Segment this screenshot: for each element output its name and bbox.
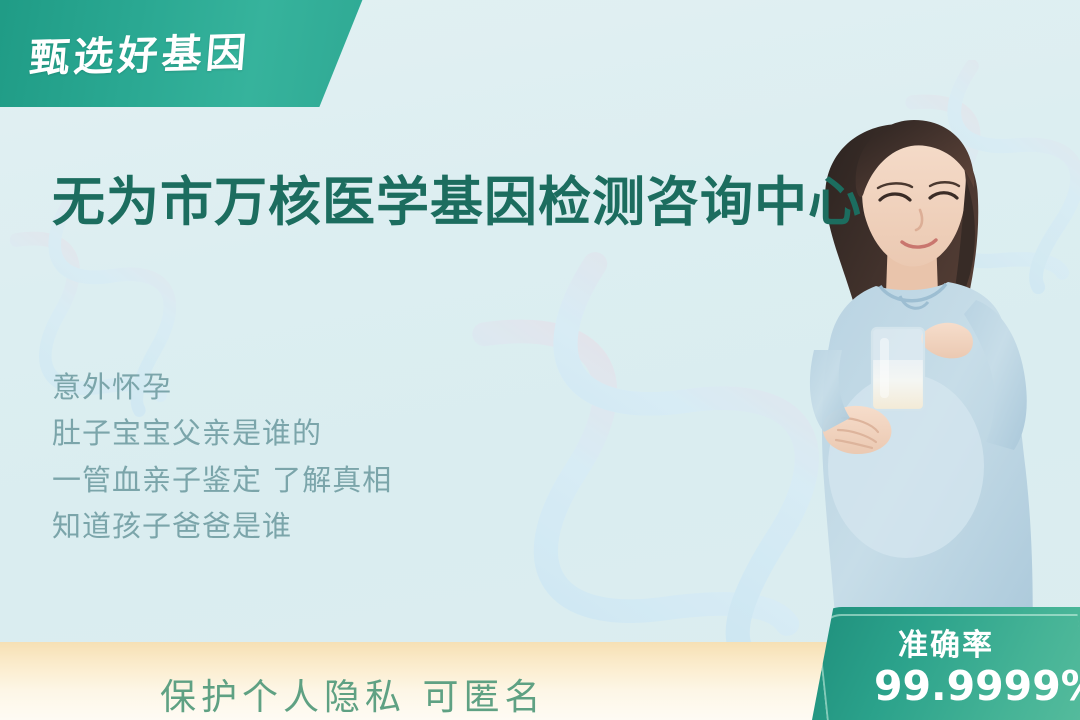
body-line: 意外怀孕 <box>52 372 392 402</box>
accuracy-value: 99.9999% <box>874 662 1080 710</box>
body-line: 一管血亲子鉴定 了解真相 <box>52 465 392 495</box>
promo-poster: 甄选好基因 无为市万核医学基因检测咨询中心 意外怀孕 肚子宝宝父亲是谁的 一管血… <box>0 0 1080 720</box>
privacy-strip-text: 保护个人隐私 可匿名 <box>160 668 545 720</box>
brand-banner: 甄选好基因 <box>0 0 364 107</box>
milk-glass <box>872 328 924 410</box>
page-title: 无为市万核医学基因检测咨询中心 <box>52 160 862 236</box>
body-copy: 意外怀孕 肚子宝宝父亲是谁的 一管血亲子鉴定 了解真相 知道孩子爸爸是谁 <box>52 372 392 542</box>
body-line: 知道孩子爸爸是谁 <box>52 511 392 541</box>
brand-logo-text: 甄选好基因 <box>27 20 252 84</box>
accuracy-label: 准确率 <box>898 620 994 664</box>
accuracy-badge: 准确率 99.9999% <box>812 607 1080 720</box>
body-line: 肚子宝宝父亲是谁的 <box>52 418 392 448</box>
